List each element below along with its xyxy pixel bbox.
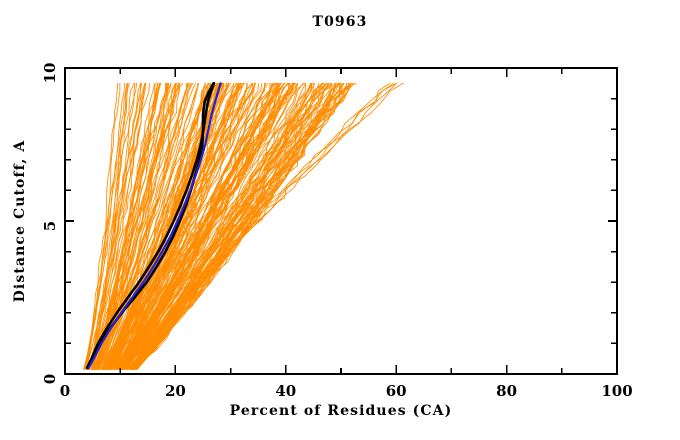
x-tick-label: 40: [275, 382, 296, 400]
y-tick-label: 10: [41, 63, 59, 84]
chart-canvas: T0963 0204060801000510 Percent of Residu…: [0, 0, 680, 440]
x-tick-label: 0: [60, 382, 70, 400]
x-tick-label: 60: [386, 382, 407, 400]
x-tick-label: 100: [601, 382, 632, 400]
page-title: T0963: [313, 14, 368, 30]
x-axis-title: Percent of Residues (CA): [230, 403, 453, 419]
plot-figure: T0963 0204060801000510 Percent of Residu…: [0, 0, 680, 440]
x-tick-label: 20: [165, 382, 186, 400]
y-tick-label: 0: [41, 374, 59, 384]
y-tick-label: 5: [41, 221, 59, 231]
x-tick-label: 80: [496, 382, 517, 400]
y-axis-title: Distance Cutoff, A: [12, 140, 28, 303]
